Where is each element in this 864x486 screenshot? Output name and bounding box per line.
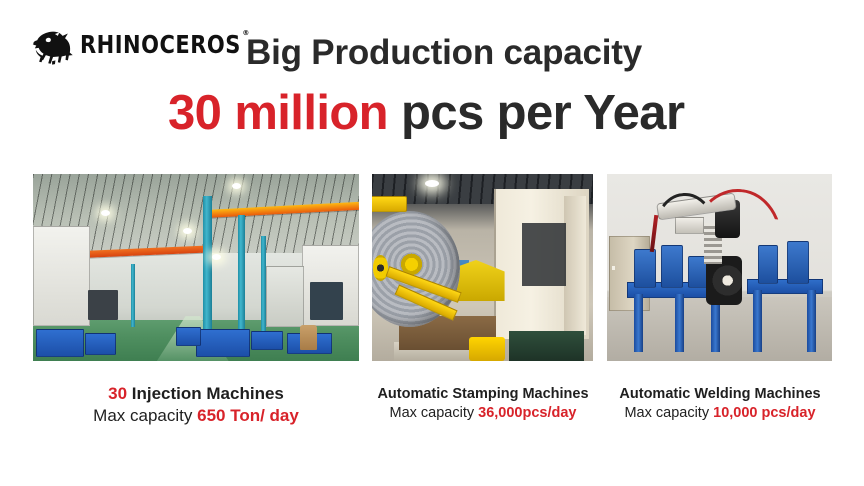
ceiling-lamp: [425, 180, 439, 187]
injection-machine: [266, 266, 304, 328]
logo-wordmark: RHINOCEROS ®: [80, 33, 241, 58]
table-leg: [675, 294, 684, 352]
blue-crate: [196, 329, 250, 357]
company-logo: RHINOCEROS ®: [30, 20, 220, 70]
blue-crate: [85, 333, 116, 356]
caption-stamping-line-2: Max capacity 36,000pcs/day: [358, 404, 608, 423]
welding-fixture: [634, 249, 656, 288]
press-opening: [522, 223, 566, 287]
caption-injection-capacity-prefix: Max capacity: [93, 406, 197, 425]
press-column: [564, 196, 586, 334]
injection-molding-workshop-photo: [33, 174, 359, 361]
support-pillar: [131, 264, 135, 328]
caption-injection-line-1: 30 Injection Machines: [33, 383, 359, 405]
caption-injection-label: Injection Machines: [127, 384, 284, 403]
support-pillar: [203, 196, 212, 331]
caption-welding-capacity-prefix: Max capacity: [624, 405, 713, 421]
cabinet-label: [612, 266, 615, 270]
welding-fixture: [787, 241, 809, 284]
automatic-stamping-machine-photo: [372, 174, 593, 361]
rhinoceros-silhouette-icon: [30, 22, 78, 68]
headline-highlight-number: 30 million: [168, 86, 388, 140]
caption-injection-count: 30: [108, 384, 127, 403]
table-leg: [807, 290, 816, 352]
caption-injection-capacity-value: 650 Ton/ day: [197, 406, 299, 425]
blue-crate: [176, 327, 201, 346]
blue-crate: [36, 329, 84, 357]
table-leg: [634, 294, 643, 352]
decoiler-arm: [372, 196, 407, 211]
logo-wordmark-text: RHINOCEROS: [80, 30, 241, 58]
table-leg: [753, 290, 762, 352]
caption-injection-line-2: Max capacity 650 Ton/ day: [33, 405, 359, 427]
caption-stamping: Automatic Stamping Machines Max capacity…: [358, 385, 608, 423]
ceiling-lamp: [101, 210, 110, 216]
automatic-welding-machine-photo: [607, 174, 832, 361]
caption-welding: Automatic Welding Machines Max capacity …: [600, 385, 840, 423]
caption-stamping-capacity-prefix: Max capacity: [389, 405, 478, 421]
blue-crate: [251, 331, 282, 350]
caption-welding-label: Automatic Welding Machines: [619, 386, 820, 402]
caption-stamping-label: Automatic Stamping Machines: [377, 386, 588, 402]
welding-fixture: [758, 245, 778, 284]
injection-machine: [33, 226, 90, 325]
caption-stamping-line-1: Automatic Stamping Machines: [358, 385, 608, 404]
caption-welding-line-2: Max capacity 10,000 pcs/day: [600, 404, 840, 423]
machine-cabinet: [310, 282, 343, 319]
caption-welding-line-1: Automatic Welding Machines: [600, 385, 840, 404]
injection-photo-content: [33, 174, 359, 361]
support-pillar: [238, 215, 245, 331]
machine-cabinet: [88, 290, 117, 320]
welding-fixture: [661, 245, 683, 288]
production-capacity-slide: RHINOCEROS ® Big Production capacity 30 …: [0, 0, 864, 486]
material-sack: [300, 325, 316, 349]
headline-line-2-rest: pcs per Year: [388, 86, 684, 140]
caption-stamping-capacity-value: 36,000pcs/day: [478, 405, 576, 421]
caption-injection: 30 Injection Machines Max capacity 650 T…: [33, 383, 359, 428]
photo-row: [0, 174, 864, 361]
yellow-tote: [469, 337, 504, 361]
caption-welding-capacity-value: 10,000 pcs/day: [713, 405, 815, 421]
headline-line-1: Big Production capacity: [246, 33, 642, 73]
headline-line-2: 30 million pcs per Year: [168, 85, 684, 141]
welding-photo-content: [607, 174, 832, 361]
hanging-control-box: [675, 217, 704, 234]
stamping-photo-content: [372, 174, 593, 361]
parts-bin: [509, 331, 584, 361]
